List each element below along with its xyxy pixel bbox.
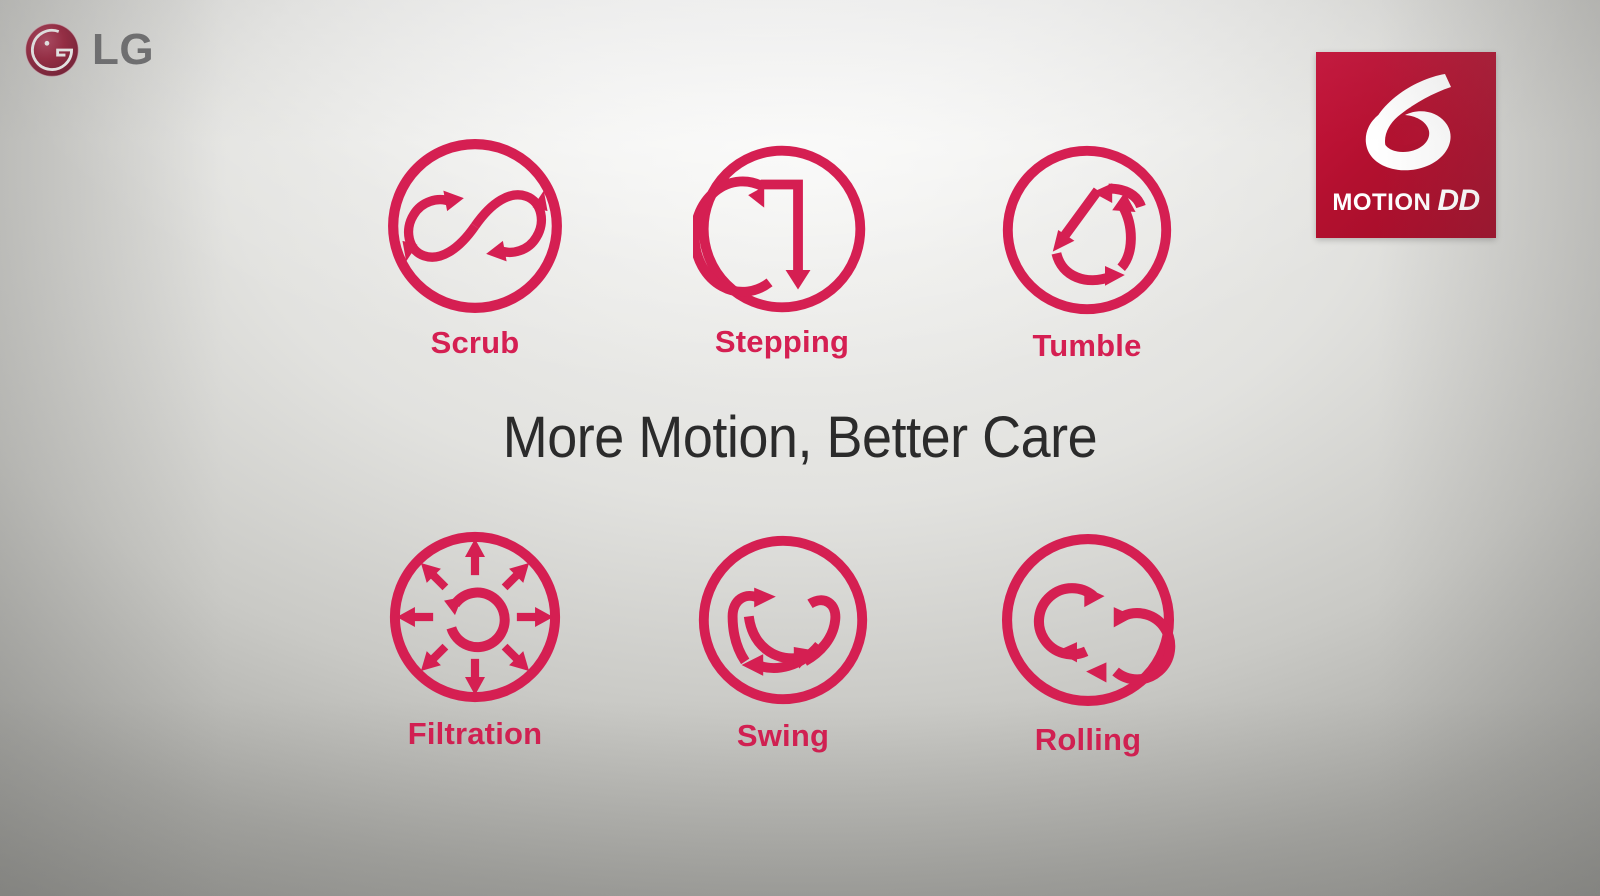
motion-item-filtration[interactable]: Filtration [345,526,605,752]
motion-item-stepping[interactable]: Stepping [652,140,912,360]
six-motion-dd-badge: MOTION DD [1316,52,1496,238]
pendulum-swing-arrows-icon [693,530,873,710]
badge-motion-label: MOTION [1332,189,1431,217]
motion-label-swing: Swing [653,718,913,754]
motion-item-rolling[interactable]: Rolling [958,528,1218,758]
motion-item-swing[interactable]: Swing [653,530,913,754]
infinity-arrows-icon [382,133,568,319]
motion-label-tumble: Tumble [957,328,1217,364]
page-title: More Motion, Better Care [56,404,1544,471]
lg-logo: LG [24,22,154,78]
badge-wordmark: MOTION DD [1332,184,1479,218]
six-swoosh-icon [1341,60,1471,182]
step-arc-down-arrow-icon [693,140,871,318]
motion-label-rolling: Rolling [958,722,1218,758]
motion-label-scrub: Scrub [345,325,605,361]
lg-wordmark: LG [92,28,154,72]
twin-circular-arrows-icon [996,528,1180,712]
lg-circle-face-icon [24,22,80,78]
motion-label-stepping: Stepping [652,324,912,360]
motion-label-filtration: Filtration [345,716,605,752]
triangular-rotation-arrows-icon [997,140,1177,320]
badge-dd-label: DD [1437,184,1479,218]
motion-item-scrub[interactable]: Scrub [345,133,605,361]
slide-canvas: LG MOTION DD [0,0,1600,896]
radial-burst-arrows-icon [384,526,566,708]
motion-item-tumble[interactable]: Tumble [957,140,1217,364]
